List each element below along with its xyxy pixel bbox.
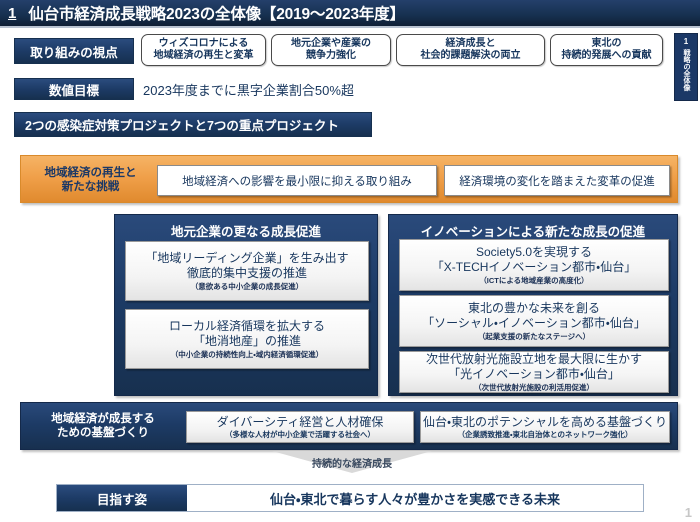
viewpoint-card-3[interactable]: 経済成長と 社会的課題解決の両立 <box>396 34 545 66</box>
viewpoint-card-4-line2: 持続的発展への貢献 <box>562 50 652 63</box>
innovation-project-2-line1: 東北の豊かな未来を創る <box>468 301 600 316</box>
foundation-box-1-title: ダイバーシティ経営と人材確保 <box>217 415 384 429</box>
foundation-label-line1: 地域経済が成長する <box>51 412 155 426</box>
slide-title-bar: 1 仙台市経済成長戦略2023の全体像【2019～2023年度】 <box>0 0 700 26</box>
viewpoint-card-1-line1: ウィズコロナによる <box>159 38 249 51</box>
viewpoint-card-3-line2: 社会的課題解決の両立 <box>421 50 521 63</box>
panel-local-business-growth-title: 地元企業の更なる成長促進 <box>115 221 377 240</box>
innovation-project-2-line2: 「ソーシャル・イノベーション都市・仙台」 <box>422 316 646 331</box>
goal-row: 目指す姿 仙台・東北で暮らす人々が豊かさを実感できる未来 <box>56 484 644 512</box>
goal-label: 目指す姿 <box>57 485 187 511</box>
slide-root: 1 仙台市経済成長戦略2023の全体像【2019～2023年度】 1 戦略の全体… <box>0 0 700 522</box>
foundation-box-2[interactable]: 仙台・東北のポテンシャルを高める基盤づくり （企業誘致推進・東北自治体とのネット… <box>420 411 670 443</box>
foundation-box-2-sub: （企業誘致推進・東北自治体とのネットワーク強化） <box>458 430 633 439</box>
innovation-project-1-line2: 「X-TECHイノベーション都市・仙台」 <box>432 260 637 275</box>
slide-number: 1 <box>8 5 16 22</box>
panel-innovation-growth-title: イノベーションによる新たな成長の促進 <box>389 221 677 240</box>
innovation-project-1-line1: Society5.0を実現する <box>476 245 592 260</box>
local-growth-project-2-sub: （中小企業の持続性向上・域内経済循環促進） <box>171 350 324 360</box>
side-index-tab[interactable]: 1 戦略の全体像 <box>674 33 698 101</box>
innovation-project-2-sub: （起業支援の新たなステージへ） <box>478 332 590 342</box>
recovery-challenge-label-line2: 新たな挑戦 <box>62 180 120 194</box>
local-growth-project-2-line2: 「地消地産」の推進 <box>193 334 301 349</box>
foundation-box-1-sub: （多様な人材が中小企業で活躍する社会へ） <box>225 430 375 439</box>
foundation-box-2-title: 仙台・東北のポテンシャルを高める基盤づくり <box>423 415 667 429</box>
side-tab-label: 戦略の全体像 <box>682 49 690 93</box>
panel-innovation-growth: イノベーションによる新たな成長の促進 Society5.0を実現する 「X-TE… <box>388 214 678 396</box>
foundation-label-line2: ための基盤づくり <box>57 426 149 440</box>
page-number: 1 <box>685 505 692 520</box>
title-underline <box>0 26 700 28</box>
local-growth-project-1-sub: （意欲ある中小企業の成長促進） <box>191 282 304 292</box>
viewpoint-card-3-line1: 経済成長と <box>446 38 496 51</box>
panel-local-business-growth: 地元企業の更なる成長促進 「地域リーディング企業」を生み出す 徹底的集中支援の推… <box>114 214 378 396</box>
recovery-box-1[interactable]: 地域経済への影響を最小限に抑える取り組み <box>157 165 437 196</box>
local-growth-project-2[interactable]: ローカル経済循環を拡大する 「地消地産」の推進 （中小企業の持続性向上・域内経済… <box>125 309 369 369</box>
projects-banner: 2つの感染症対策プロジェクトと7つの重点プロジェクト <box>14 112 372 137</box>
innovation-project-1[interactable]: Society5.0を実現する 「X-TECHイノベーション都市・仙台」 （IC… <box>399 239 669 291</box>
viewpoints-label: 取り組みの視点 <box>14 38 134 64</box>
innovation-project-3[interactable]: 次世代放射光施設立地を最大限に生かす 「光イノベーション都市・仙台」 （次世代放… <box>399 351 669 393</box>
page-title: 仙台市経済成長戦略2023の全体像【2019～2023年度】 <box>28 2 404 24</box>
foundation-label: 地域経済が成長する ための基盤づくり <box>28 410 178 442</box>
kpi-value: 2023年度までに黒字企業割合50%超 <box>143 78 354 100</box>
viewpoint-card-2[interactable]: 地元企業や産業の 競争力強化 <box>271 34 391 66</box>
innovation-project-3-line1: 次世代放射光施設立地を最大限に生かす <box>426 352 642 367</box>
recovery-challenge-label: 地域経済の再生と 新たな挑戦 <box>28 164 153 196</box>
recovery-box-2[interactable]: 経済環境の変化を踏まえた変革の促進 <box>444 165 670 196</box>
side-tab-number: 1 <box>684 37 688 47</box>
viewpoint-card-1-line2: 地域経済の再生と変革 <box>154 50 254 63</box>
innovation-project-3-line2: 「光イノベーション都市・仙台」 <box>448 367 620 382</box>
innovation-project-2[interactable]: 東北の豊かな未来を創る 「ソーシャル・イノベーション都市・仙台」 （起業支援の新… <box>399 295 669 347</box>
viewpoint-card-2-line2: 競争力強化 <box>306 50 356 63</box>
local-growth-project-1-line1: 「地域リーディング企業」を生み出す <box>145 251 348 266</box>
local-growth-project-2-line1: ローカル経済循環を拡大する <box>169 319 325 334</box>
recovery-challenge-label-line1: 地域経済の再生と <box>45 166 137 180</box>
viewpoint-card-4-line1: 東北の <box>592 38 622 51</box>
viewpoint-card-2-line1: 地元企業や産業の <box>291 38 371 51</box>
local-growth-project-1-line2: 徹底的集中支援の推進 <box>187 266 307 281</box>
arrow-caption: 持続的な経済成長 <box>272 455 432 470</box>
goal-text: 仙台・東北で暮らす人々が豊かさを実感できる未来 <box>187 485 643 511</box>
foundation-box-1[interactable]: ダイバーシティ経営と人材確保 （多様な人材が中小企業で活躍する社会へ） <box>186 411 414 443</box>
innovation-project-1-sub: （ICTによる地域産業の高度化） <box>479 276 588 286</box>
kpi-label: 数値目標 <box>14 78 134 100</box>
local-growth-project-1[interactable]: 「地域リーディング企業」を生み出す 徹底的集中支援の推進 （意欲ある中小企業の成… <box>125 241 369 301</box>
innovation-project-3-sub: （次世代放射光施設の利活用促進） <box>474 383 594 393</box>
viewpoint-card-4[interactable]: 東北の 持続的発展への貢献 <box>550 34 663 66</box>
viewpoint-card-1[interactable]: ウィズコロナによる 地域経済の再生と変革 <box>141 34 266 66</box>
